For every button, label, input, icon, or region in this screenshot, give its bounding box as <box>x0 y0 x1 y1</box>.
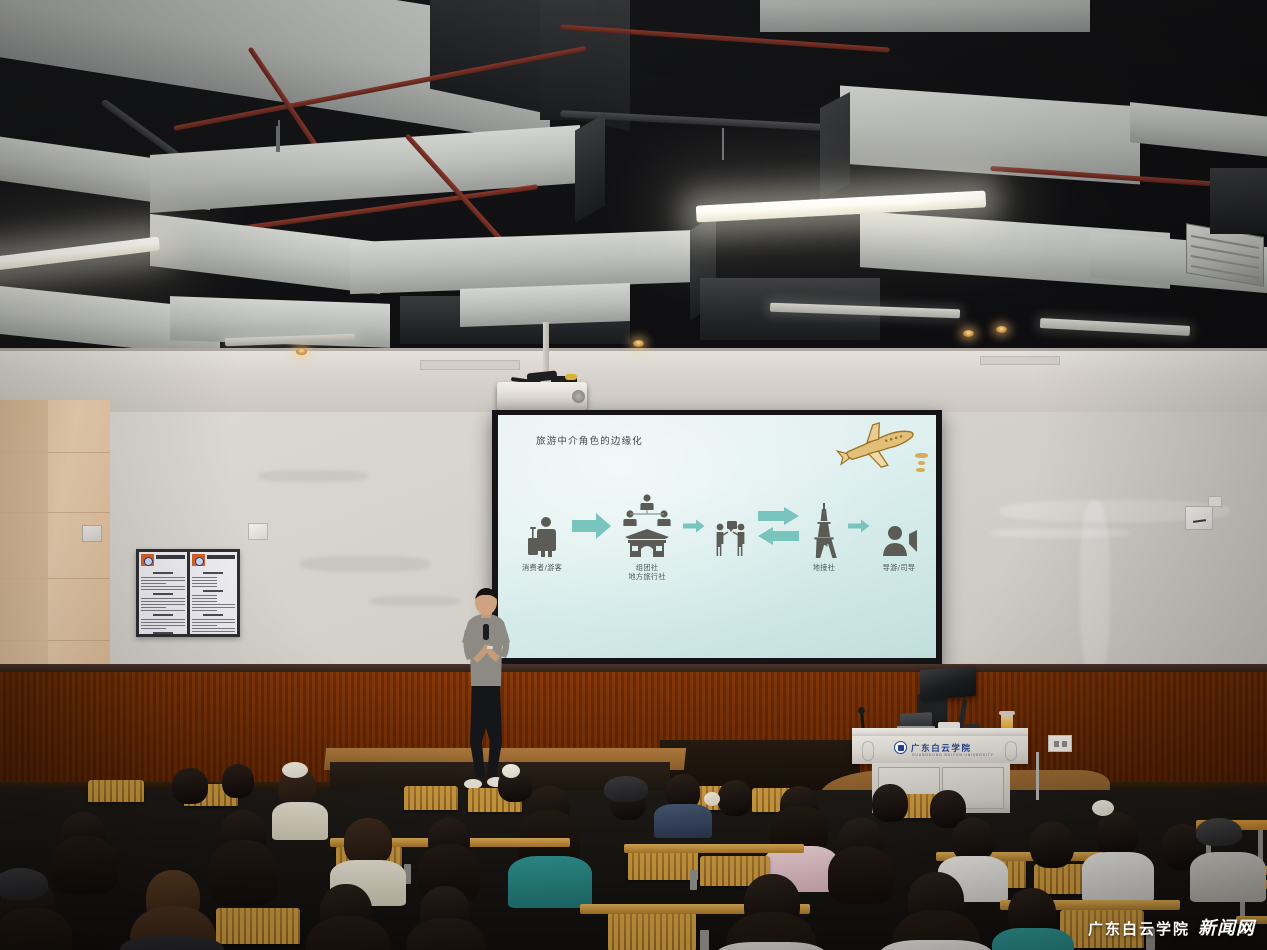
light-hanger <box>276 126 278 152</box>
slide-flow-diagram: 消费者/游客 <box>522 493 918 605</box>
audience-torso <box>654 804 712 838</box>
ceiling-structure <box>0 0 1267 380</box>
tour-guide-megaphone-icon <box>880 493 918 559</box>
downlight <box>633 340 644 347</box>
hair-accessory <box>704 792 720 806</box>
acoustic-baffle <box>150 125 580 213</box>
fluorescent-light-dim <box>1040 318 1190 336</box>
flow-label-consumer: 消费者/游客 <box>522 563 562 572</box>
baseball-cap <box>1196 818 1242 846</box>
lecture-seat <box>608 912 696 950</box>
ceiling-panel <box>1210 168 1267 234</box>
acoustic-baffle-side <box>820 92 850 200</box>
audience-head <box>1030 822 1074 868</box>
wall-socket[interactable] <box>248 523 268 540</box>
audience-torso <box>1082 852 1154 902</box>
microphone-head <box>858 707 865 714</box>
audience-hair <box>50 836 118 894</box>
audience-torso <box>992 928 1074 950</box>
lecture-hall-photo: 旅游中介角色的边缘化 <box>0 0 1267 950</box>
flow-node-travel-agency: 组团社 地方旅行社 <box>621 493 673 581</box>
podium-institution-cn: 广东白云学院 <box>911 742 972 754</box>
seat-rail <box>624 844 804 853</box>
slide-surface: 旅游中介角色的边缘化 <box>498 415 936 658</box>
ceiling-panel <box>540 0 596 120</box>
downlight <box>963 330 974 337</box>
watermark-section: 新闻网 <box>1198 914 1255 940</box>
audience-torso <box>120 936 224 950</box>
flow-node-inbound-agency: 地接社 <box>809 493 839 572</box>
soffit-panel <box>420 360 520 370</box>
projection-screen: 旅游中介角色的边缘化 <box>492 410 942 668</box>
wall-mark <box>258 470 368 482</box>
baseball-cap <box>0 868 48 900</box>
lecture-seat <box>88 780 144 802</box>
audience-head <box>344 818 392 866</box>
acoustic-baffle <box>1130 102 1267 158</box>
baseball-cap <box>604 776 648 802</box>
notice-board <box>136 549 240 637</box>
flow-arrow-small <box>848 493 870 559</box>
official-seal-icon <box>141 554 154 566</box>
audience-torso <box>1190 852 1266 902</box>
wall-socket[interactable] <box>1048 735 1072 752</box>
light-hanger <box>722 128 724 160</box>
ceiling-soffit <box>0 348 1267 418</box>
wall-column-shaded-face <box>0 400 48 682</box>
flow-node-consumer: 消费者/游客 <box>522 493 562 572</box>
flow-label-tour-guide: 导游/司导 <box>883 563 916 572</box>
flow-label-agency-line1: 组团社 <box>636 563 658 572</box>
airplane-trail-dots <box>915 453 928 475</box>
wall-mark <box>990 528 1130 538</box>
audience-hair <box>208 840 278 906</box>
audience-hair <box>306 916 390 950</box>
two-people-handover-icon <box>714 493 748 559</box>
acoustic-baffle-side <box>575 113 605 222</box>
seat-bracket <box>690 870 697 890</box>
downlight <box>996 326 1007 333</box>
audience-hair <box>0 908 72 950</box>
wall-conduit-box <box>1208 496 1222 507</box>
audience-head <box>172 768 208 804</box>
soffit-panel <box>980 356 1060 365</box>
flow-arrow-small <box>683 493 705 559</box>
org-chart-gate-icon <box>621 493 673 559</box>
projector-lens <box>572 390 585 403</box>
hair-accessory <box>502 764 520 778</box>
eiffel-tower-icon <box>809 493 839 559</box>
audience-head <box>718 780 752 816</box>
wall-mounted-device <box>1185 506 1213 530</box>
downlight <box>296 348 307 355</box>
audience-torso <box>272 802 328 840</box>
podium-monitor <box>920 666 976 700</box>
hair-accessory <box>1092 800 1114 816</box>
audience-head <box>222 764 254 798</box>
podium-institution-en: GUANGDONG BAIYUN UNIVERSITY <box>912 753 994 757</box>
official-seal-icon <box>192 554 205 566</box>
lecture-seat <box>216 908 300 944</box>
audience <box>0 760 1267 950</box>
audience-torso <box>880 940 992 950</box>
wall-mark <box>1080 500 1110 680</box>
ceiling-panel <box>760 0 1090 32</box>
flow-arrow-double <box>758 493 800 559</box>
light-hanger <box>278 120 280 152</box>
acoustic-baffle <box>350 230 700 294</box>
hair-accessory <box>282 762 308 778</box>
podium-ornament <box>1005 741 1017 761</box>
watermark: 广东白云学院 新闻网 <box>1088 914 1255 940</box>
audience-torso <box>716 942 826 950</box>
audience-head <box>872 784 908 822</box>
fluorescent-light <box>0 236 160 273</box>
audience-hair <box>828 846 894 904</box>
watermark-organization: 广东白云学院 <box>1088 918 1190 939</box>
wall-mark <box>370 596 460 606</box>
flow-node-tour-guide: 导游/司导 <box>880 493 918 572</box>
acoustic-baffle <box>460 283 630 327</box>
lecture-seat <box>628 850 698 880</box>
baiyun-university-seal-icon <box>894 741 907 754</box>
lecture-seat <box>404 786 458 810</box>
notice-sheet <box>190 552 238 634</box>
audience-torso <box>508 856 592 908</box>
audience-head <box>1096 812 1138 856</box>
podium-ornament <box>862 741 874 761</box>
flow-node-handover <box>714 493 748 563</box>
audience-hair <box>406 918 486 950</box>
traveler-with-luggage-icon <box>527 493 557 559</box>
wall-socket[interactable] <box>82 525 102 542</box>
seat-bracket <box>700 930 709 950</box>
notice-sheet <box>139 552 187 634</box>
airplane-icon <box>834 419 920 473</box>
flow-label-agency-line2: 地方旅行社 <box>628 572 665 581</box>
wall-mark <box>300 556 430 572</box>
slide-title: 旅游中介角色的边缘化 <box>536 433 643 447</box>
flow-arrow-large <box>572 493 612 559</box>
flow-label-inbound-agency: 地接社 <box>813 563 835 572</box>
